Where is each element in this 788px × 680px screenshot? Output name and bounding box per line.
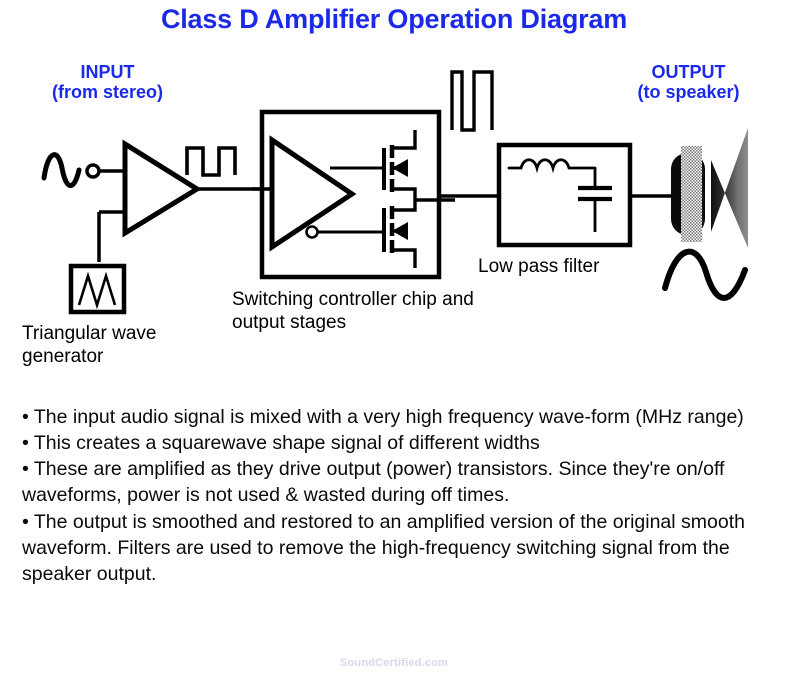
bullet-item: • The output is smoothed and restored to… <box>22 509 774 587</box>
low-pass-filter-label: Low pass filter <box>478 255 678 278</box>
diagram-page: Class D Amplifier Operation Diagram INPU… <box>0 0 788 680</box>
triangular-wave-generator-icon <box>71 266 124 312</box>
switching-controller-label: Switching controller chip and output sta… <box>232 288 502 334</box>
comparator-amplifier-icon <box>99 144 262 233</box>
watermark: SoundCertified.com <box>0 657 788 669</box>
triangular-generator-label: Triangular wave generator <box>22 322 222 368</box>
input-sine-wave-icon <box>44 155 79 186</box>
bullet-item: • This creates a squarewave shape signal… <box>22 430 774 456</box>
explanation-bullets: • The input audio signal is mixed with a… <box>22 404 774 587</box>
input-terminal-icon <box>87 165 125 177</box>
pwm-square-wave-icon <box>187 148 235 175</box>
switching-controller-block <box>262 112 455 277</box>
bullet-item: • These are amplified as they drive outp… <box>22 456 774 508</box>
pwm-pulse-train-icon <box>452 72 492 130</box>
bullet-item: • The input audio signal is mixed with a… <box>22 404 774 430</box>
low-pass-filter-block <box>499 145 630 245</box>
speaker-icon <box>671 128 748 248</box>
